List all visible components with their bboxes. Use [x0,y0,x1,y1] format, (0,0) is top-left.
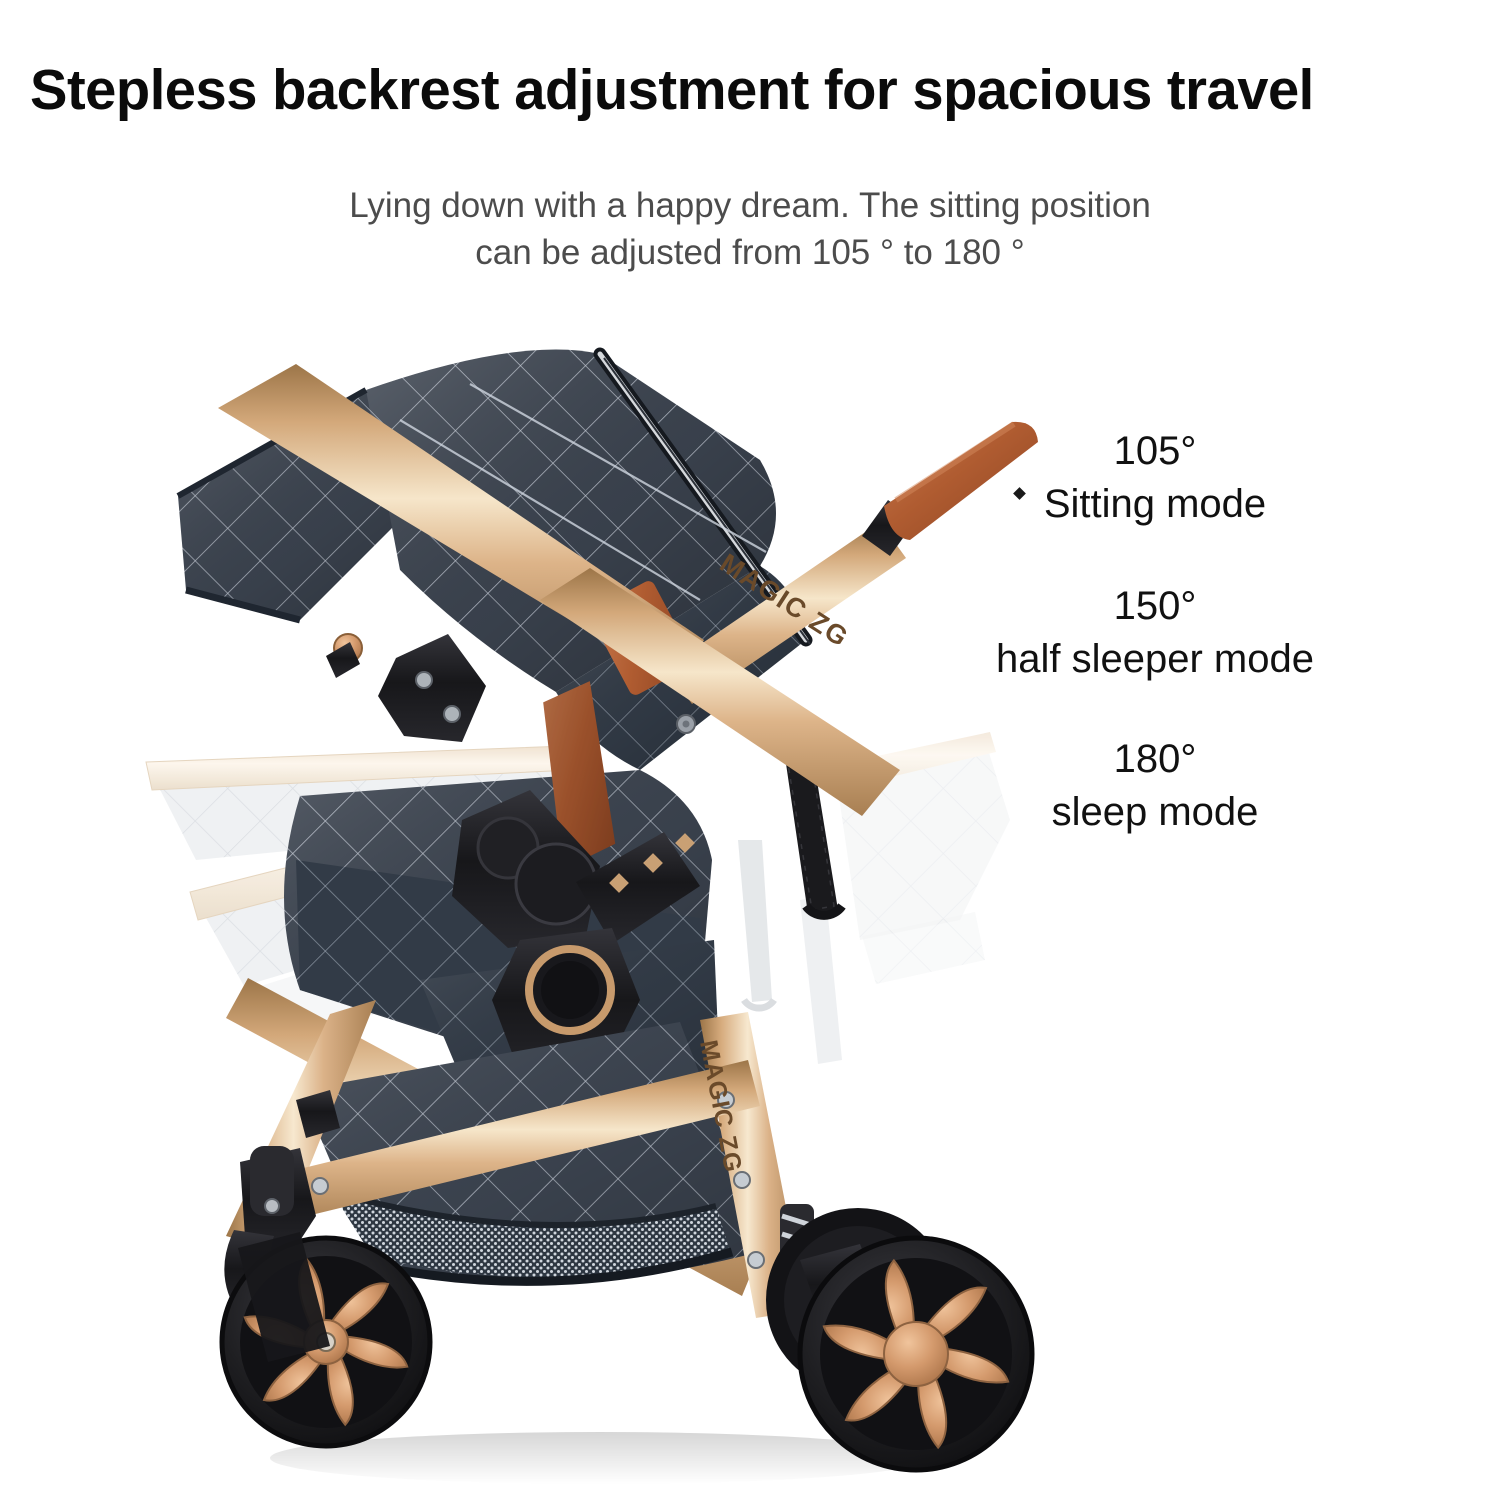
annotation-angle-180: 180° [945,733,1365,785]
product-feature-image: Stepless backrest adjustment for spaciou… [0,0,1500,1500]
annotation-mode-sitting: Sitting mode [945,477,1365,531]
ghost-leg [800,896,842,1064]
annotation-mode-half-sleeper: half sleeper mode [945,632,1365,686]
annotation-sitting-mode: 105° Sitting mode [945,425,1365,531]
annotation-half-sleeper-mode: 150° half sleeper mode [945,580,1365,686]
page-subtitle: Lying down with a happy dream. The sitti… [0,182,1500,276]
canopy-pivot-joint [326,634,486,742]
annotation-sleep-mode: 180° sleep mode [945,733,1365,839]
subtitle-line-1: Lying down with a happy dream. The sitti… [349,186,1151,225]
page-title: Stepless backrest adjustment for spaciou… [30,55,1448,125]
ghost-strap [738,840,774,1008]
annotation-angle-105: 105° [945,425,1365,477]
rear-wheel-assembly [766,1204,1032,1470]
rear-wheel-hub-cap [884,1322,948,1386]
subtitle-line-2: can be adjusted from 105 ° to 180 ° [0,229,1500,276]
floor-shadow [270,1432,930,1484]
annotation-mode-sleep: sleep mode [945,785,1365,839]
annotation-angle-150: 150° [945,580,1365,632]
